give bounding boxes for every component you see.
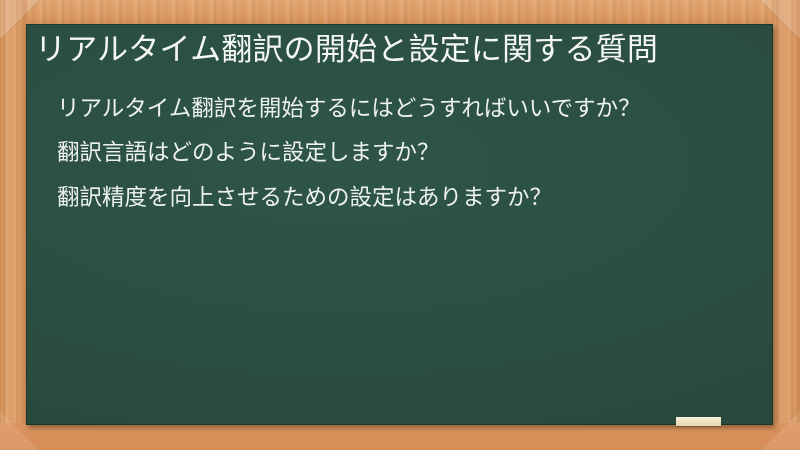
frame-rail-left bbox=[0, 0, 27, 450]
chalkboard-surface: リアルタイム翻訳の開始と設定に関する質問 リアルタイム翻訳を開始するにはどうすれ… bbox=[26, 24, 773, 425]
list-item: リアルタイム翻訳を開始するにはどうすればいいですか？ bbox=[35, 94, 751, 124]
frame-tray-bottom bbox=[0, 423, 800, 450]
chalk-stick-icon bbox=[676, 417, 721, 426]
slide-title: リアルタイム翻訳の開始と設定に関する質問 bbox=[35, 30, 751, 70]
chalkboard-content: リアルタイム翻訳の開始と設定に関する質問 リアルタイム翻訳を開始するにはどうすれ… bbox=[26, 24, 773, 425]
frame-rail-top bbox=[0, 0, 800, 26]
list-item: 翻訳精度を向上させるための設定はありますか？ bbox=[35, 183, 751, 213]
frame-rail-right bbox=[772, 0, 800, 450]
question-list: リアルタイム翻訳を開始するにはどうすればいいですか？ 翻訳言語はどのように設定し… bbox=[35, 94, 751, 212]
slide-canvas: リアルタイム翻訳の開始と設定に関する質問 リアルタイム翻訳を開始するにはどうすれ… bbox=[0, 0, 800, 450]
title-body-spacer bbox=[35, 70, 751, 94]
list-item: 翻訳言語はどのように設定しますか？ bbox=[35, 138, 751, 168]
